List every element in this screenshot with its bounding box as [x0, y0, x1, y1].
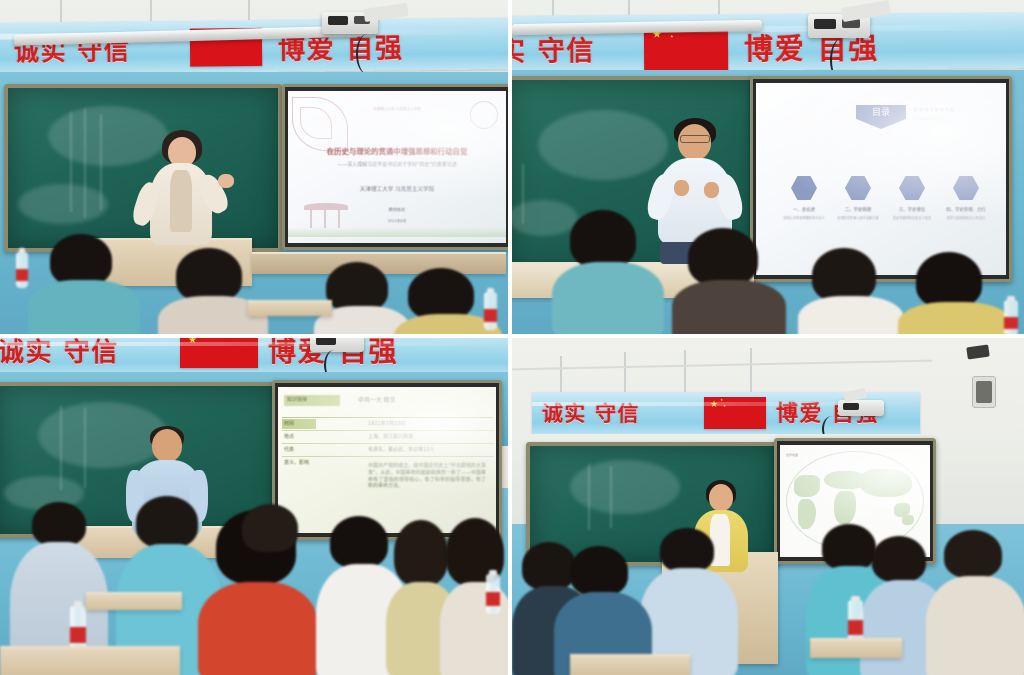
toc-item-sub: 在党的百年奋斗史中汲取力量: [836, 215, 880, 220]
presenter-head: [709, 484, 733, 511]
slide-footer-band: [288, 227, 506, 237]
slide-toc-tag-sub-2: CONTENTS: [914, 117, 946, 121]
toc-item-sub: 把学习成效转化为工作动力: [944, 215, 988, 220]
hanging-rod: [684, 350, 686, 394]
presenter-hand: [218, 174, 234, 188]
slide-heading: 中共一大 概览: [358, 395, 396, 404]
toc-item-label: 三、学史增信: [890, 207, 934, 213]
presenter-hand-left: [674, 180, 689, 196]
hanging-rod: [560, 356, 562, 394]
toc-item: 三、学史增信 坚定中国特色社会主义信念: [890, 175, 934, 220]
projector-cable: [356, 34, 378, 74]
slide-tab-label: 知识链接: [287, 396, 307, 403]
table-row-value: 毛泽东、董必武、李达等13人: [368, 446, 434, 453]
hanging-rod: [248, 0, 250, 22]
table-row-value: 1921年7月23日: [368, 420, 405, 427]
hanging-rod: [750, 348, 752, 394]
ceiling-projector: [838, 400, 884, 416]
slide-subtitle: ——深入理解习近平总书记关于学好"四史"的重要论述: [288, 161, 506, 168]
location-pin-icon: [899, 175, 925, 201]
chinese-flag-icon: ★ ★ ★: [704, 397, 766, 429]
table-paragraph: 中国共产党的成立，是中国近代史上"开天辟地的大事变"。从此，中国革命的面貌就焕然…: [368, 463, 486, 490]
audience-member: [798, 248, 902, 334]
toc-item-sub: 坚定中国特色社会主义信念: [890, 215, 934, 220]
hanging-rod: [624, 352, 626, 394]
presenter-glasses: [680, 135, 710, 143]
student-desk: [86, 592, 182, 610]
toc-item: 四、学史崇德、力行 把学习成效转化为工作动力: [944, 175, 988, 220]
projection-screen-frame: 天津理工大学 马克思主义学院 在历史与理论的贯通中增强思想和行动自觉 ——深入理…: [282, 84, 508, 250]
student-desk: [810, 638, 902, 658]
banner-text-left: 实 守信: [512, 29, 595, 69]
toc-item-label: 四、学史崇德、力行: [944, 207, 988, 213]
toc-item: 一、总论述 深刻认识学史明理的重大意义: [782, 175, 826, 220]
classroom-banner: ★ 诚实 守信 博爱 自强: [0, 338, 508, 376]
toc-item-label: 一、总论述: [782, 207, 826, 213]
slide-organization: 天津理工大学 马克思主义学院: [288, 185, 506, 193]
water-bottle: [16, 252, 28, 288]
student-desk: [0, 646, 180, 675]
collage-panel-bottom-right: ★ ★ ★ 诚实 守信 博爱 自强: [512, 338, 1024, 675]
map-label: 世界地图: [786, 453, 798, 457]
collage-panel-top-left: ★ ★ ★ 诚实 守信 博爱 自强: [0, 0, 508, 334]
audience-member: [552, 210, 662, 334]
audience-member: [640, 528, 736, 675]
classroom-banner: ★ ★ ★ 诚实 守信 博爱 自强: [0, 17, 508, 74]
envelope-icon: [953, 175, 979, 201]
wall-speaker-icon: [972, 376, 996, 408]
table-row-key: 意义、影响: [284, 459, 309, 466]
audience-member: [926, 530, 1024, 675]
banner-text-left: 诚实 守信: [0, 338, 119, 369]
toc-item-sub: 深刻认识学史明理的重大意义: [782, 215, 826, 220]
presenter-blouse: [170, 170, 192, 232]
water-bottle: [1004, 300, 1018, 334]
table-row-value: 上海、浙江嘉兴南湖: [368, 433, 413, 440]
location-pin-icon: [791, 175, 817, 201]
collage-panel-bottom-left: ★ 诚实 守信 博爱 自强 知识链接 中共一大 概览: [0, 338, 508, 675]
table-row-key: 时间: [284, 420, 294, 427]
audience-member: [158, 248, 268, 334]
university-seal: [470, 101, 498, 129]
water-bottle: [484, 292, 497, 330]
audience-member: [232, 504, 316, 590]
slide-toc-tag-sub: CONTENTS: [914, 107, 955, 112]
slide-university-mark: 天津理工大学 马克思主义学院: [288, 107, 506, 112]
chinese-flag-icon: ★: [180, 338, 258, 368]
water-bottle: [486, 574, 500, 614]
presenter-hand-right: [704, 182, 719, 198]
audience-member: [28, 234, 138, 334]
audience-member: [672, 228, 784, 334]
collage-panel-top-right: ★ ★ ★ 实 守信 博爱 自强 目录 CONTENTS CONTENTS: [512, 0, 1024, 334]
toc-item-label: 二、学史明理: [836, 207, 880, 213]
presenter-head: [152, 429, 182, 462]
projection-screen: 天津理工大学 马克思主义学院 在历史与理论的贯通中增强思想和行动自觉 ——深入理…: [288, 91, 506, 243]
pavilion-graphic: [304, 203, 348, 229]
classroom-banner: ★ ★ ★ 实 守信 博爱 自强: [512, 12, 1024, 72]
slide-toc-items: 一、总论述 深刻认识学史明理的重大意义 二、学史明理 在党的百年奋斗史中汲取力量…: [782, 175, 988, 220]
student-desk: [570, 654, 690, 675]
student-desk: [248, 300, 332, 316]
location-pin-icon: [845, 175, 871, 201]
presenter-figure: [140, 130, 220, 250]
toc-item: 二、学史明理 在党的百年奋斗史中汲取力量: [836, 175, 880, 220]
slide-title: 在历史与理论的贯通中增强思想和行动自觉: [288, 146, 506, 157]
table-row-key: 地点: [284, 433, 294, 440]
table-row-key: 代表: [284, 446, 294, 453]
banner-text-left: 诚实 守信: [542, 398, 640, 428]
slide-toc-tag: 目录: [856, 105, 906, 129]
photo-collage: ★ ★ ★ 诚实 守信 博爱 自强: [0, 0, 1024, 675]
audience-member: [898, 252, 1010, 334]
projection-screen: 目录 CONTENTS CONTENTS 一、总论述 深刻认识学史明理的重大意义…: [756, 83, 1006, 275]
